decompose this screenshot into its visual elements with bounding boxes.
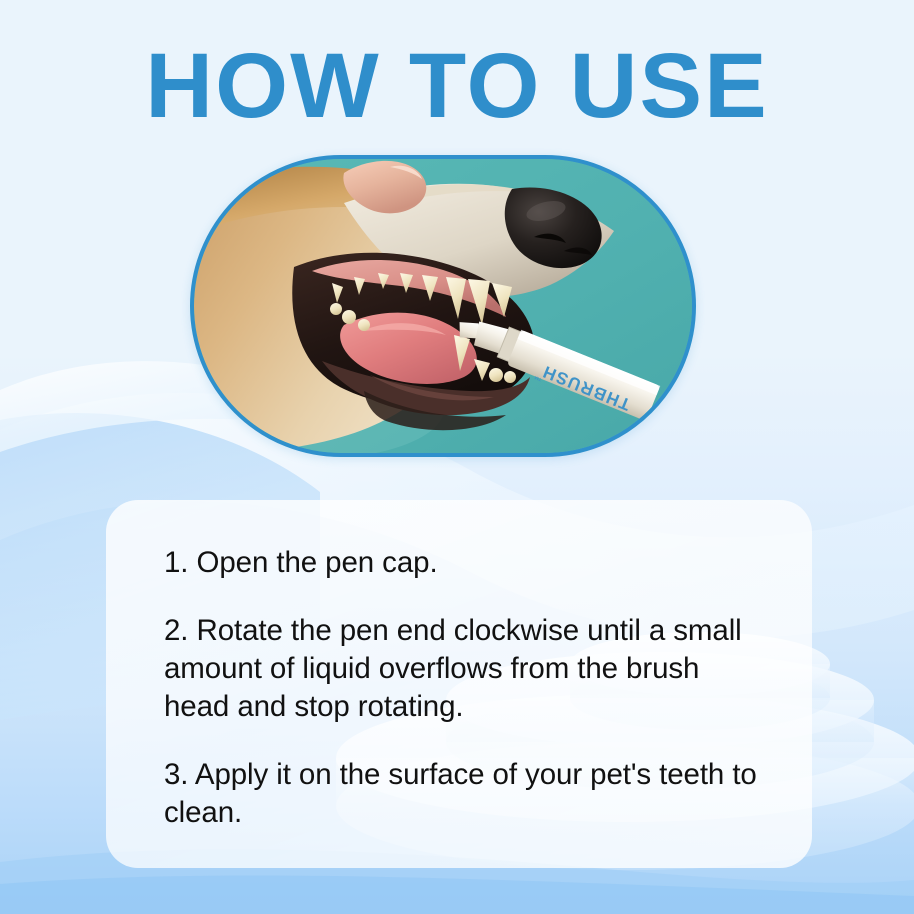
instructions-card: 1. Open the pen cap. 2. Rotate the pen e… [106, 500, 812, 868]
instruction-step-1: 1. Open the pen cap. [164, 544, 772, 582]
dog-teeth-brushing-photo: THBRUSH ™ [190, 155, 696, 457]
instruction-step-3: 3. Apply it on the surface of your pet's… [164, 756, 772, 832]
page-title: HOW TO USE [0, 36, 914, 136]
how-to-use-poster: HOW TO USE [0, 0, 914, 914]
instruction-steps-list: 1. Open the pen cap. 2. Rotate the pen e… [164, 544, 772, 832]
instruction-step-2: 2. Rotate the pen end clockwise until a … [164, 612, 772, 726]
